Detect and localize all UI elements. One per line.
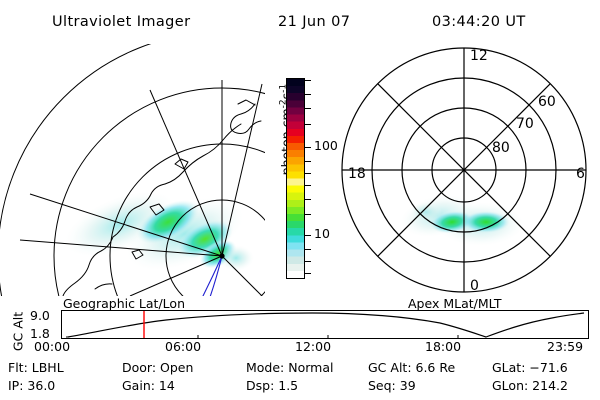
orbit-xtick-3: 18:00 (425, 339, 461, 354)
status-glat: GLat: −71.6 (492, 360, 568, 375)
colorbar-tick-10 (305, 235, 311, 236)
status-ip: IP: 36.0 (8, 378, 55, 393)
mlt-label-18: 18 (348, 166, 366, 182)
altitude-track-line (68, 313, 584, 337)
geo-panel-title: Geographic Lat/Lon (63, 296, 185, 311)
header-bar: Ultraviolet Imager 21 Jun 07 03:44:20 UT (0, 6, 600, 32)
colorbar-tick (305, 261, 311, 262)
mlt-label-0: 0 (470, 278, 479, 294)
mag-panel-title: Apex MLat/MLT (408, 296, 502, 311)
colorbar-tick (305, 124, 311, 125)
orbit-xtick-4: 23:59 (547, 339, 583, 354)
aurora-emission-geographic (56, 178, 254, 285)
colorbar-tick (305, 80, 311, 81)
colorbar-tick (305, 108, 311, 109)
colorbar-gradient (287, 79, 304, 278)
colorbar-tick-100 (305, 147, 311, 148)
colorbar-tick (305, 199, 311, 200)
pole-marker (219, 253, 224, 258)
status-mode: Mode: Normal (246, 360, 333, 375)
colorbar-tick (305, 249, 311, 250)
colorbar-gradient-box[interactable] (286, 78, 305, 279)
colorbar-panel: photon cm-2s-1 100 10 (262, 44, 332, 296)
orbit-xtick-1: 06:00 (165, 339, 201, 354)
geographic-map-svg (0, 44, 265, 296)
colorbar-tick (305, 161, 311, 162)
instrument-title: Ultraviolet Imager (52, 14, 190, 30)
colorbar-label-10: 10 (314, 228, 330, 241)
status-footer: Flt: LBHL IP: 36.0 Door: Open Gain: 14 M… (0, 360, 600, 400)
mlt-label-6: 6 (576, 166, 585, 182)
mlat-label-80: 80 (492, 140, 510, 156)
status-gain: Gain: 14 (122, 378, 175, 393)
orbit-plot-box[interactable] (61, 310, 589, 339)
magnetic-dial-panel[interactable]: 12 6 0 18 60 70 80 (330, 44, 598, 296)
observation-time: 03:44:20 UT (432, 14, 526, 30)
mlat-label-60: 60 (538, 94, 556, 110)
status-gcalt: GC Alt: 6.6 Re (368, 360, 455, 375)
colorbar-tick (305, 273, 311, 274)
colorbar-tick (305, 214, 311, 215)
status-dsp: Dsp: 1.5 (246, 378, 298, 393)
geographic-map-panel[interactable] (0, 44, 265, 296)
orbit-y-max: 9.0 (30, 308, 50, 323)
colorbar-tick (305, 173, 311, 174)
orbit-y-axis-label: GC Alt (11, 310, 26, 354)
magnetic-dial-svg: 12 6 0 18 60 70 80 (330, 44, 598, 296)
orbit-altitude-plot[interactable]: Geographic Lat/Lon Apex MLat/MLT GC Alt … (0, 296, 600, 352)
status-door: Door: Open (122, 360, 193, 375)
mlat-label-70: 70 (516, 116, 534, 132)
colorbar-tick (305, 185, 311, 186)
orbit-track-svg (62, 311, 588, 338)
status-seq: Seq: 39 (368, 378, 416, 393)
status-flt: Flt: LBHL (8, 360, 64, 375)
mlt-spokes (342, 48, 586, 292)
colorbar-tick (305, 94, 311, 95)
orbit-xtick-0: 00:00 (34, 339, 70, 354)
mlt-label-12: 12 (470, 48, 488, 64)
orbit-xtick-2: 12:00 (295, 339, 331, 354)
status-glon: GLon: 214.2 (492, 378, 568, 393)
observation-date: 21 Jun 07 (278, 14, 350, 30)
